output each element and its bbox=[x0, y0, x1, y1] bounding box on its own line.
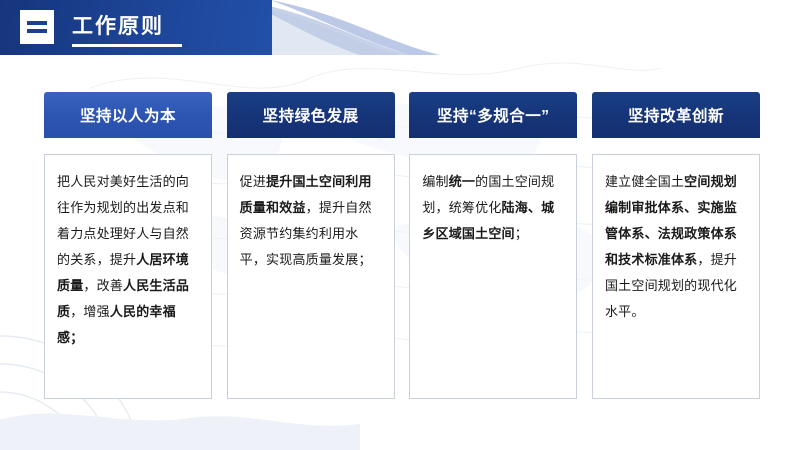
principle-card-4-title: 坚持改革创新 bbox=[592, 92, 760, 138]
hamburger-icon bbox=[20, 10, 54, 44]
principle-card-4: 坚持改革创新 建立健全国土空间规划编制审批体系、实施监管体系、法规政策体系和技术… bbox=[592, 92, 760, 412]
slide-header: 工作原则 bbox=[0, 0, 800, 55]
principle-card-2: 坚持绿色发展 促进提升国土空间利用质量和效益，提升自然资源节约集约利用水平，实现… bbox=[227, 92, 395, 412]
principle-card-1-title: 坚持以人为本 bbox=[44, 92, 212, 138]
principle-card-3-title: 坚持“多规合一” bbox=[409, 92, 577, 138]
principle-card-3: 坚持“多规合一” 编制统一的国土空间规划，统筹优化陆海、城乡区域国土空间； bbox=[409, 92, 577, 412]
principle-card-4-body: 建立健全国土空间规划编制审批体系、实施监管体系、法规政策体系和技术标准体系，提升… bbox=[592, 154, 760, 399]
principle-card-1: 坚持以人为本 把人民对美好生活的向往作为规划的出发点和着力点处理好人与自然的关系… bbox=[44, 92, 212, 412]
principle-card-2-title: 坚持绿色发展 bbox=[227, 92, 395, 138]
title-underline bbox=[72, 44, 182, 47]
slide: 工作原则 坚持以人为本 把人民对美好生活的向往作为规划的出发点和着力点处理好人与… bbox=[0, 0, 800, 450]
header-wave-decoration bbox=[250, 0, 800, 55]
principle-card-2-body: 促进提升国土空间利用质量和效益，提升自然资源节约集约利用水平，实现高质量发展； bbox=[227, 154, 395, 399]
bottom-decoration bbox=[0, 380, 800, 450]
principle-card-1-body: 把人民对美好生活的向往作为规划的出发点和着力点处理好人与自然的关系，提升人居环境… bbox=[44, 154, 212, 399]
principles-card-row: 坚持以人为本 把人民对美好生活的向往作为规划的出发点和着力点处理好人与自然的关系… bbox=[44, 92, 760, 412]
page-title: 工作原则 bbox=[72, 13, 164, 41]
principle-card-3-body: 编制统一的国土空间规划，统筹优化陆海、城乡区域国土空间； bbox=[409, 154, 577, 399]
